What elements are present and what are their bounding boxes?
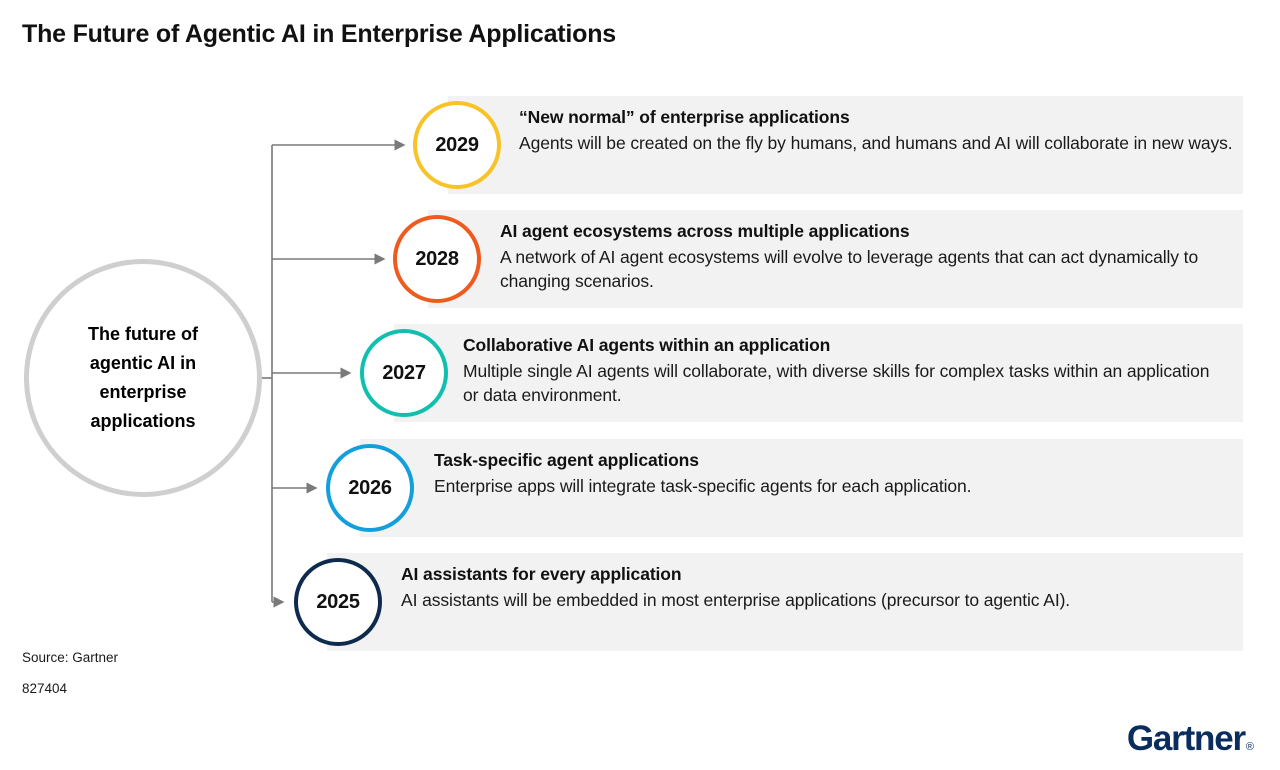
row-description-2029: Agents will be created on the fly by hum… (519, 131, 1235, 156)
row-description-2027: Multiple single AI agents will collabora… (463, 359, 1213, 409)
row-heading-2028: AI agent ecosystems across multiple appl… (500, 220, 1230, 244)
timeline-rows: 2029 “New normal” of enterprise applicat… (0, 0, 1280, 770)
row-heading-2025: AI assistants for every application (401, 563, 1201, 587)
year-circle-2028[interactable]: 2028 (393, 215, 481, 303)
row-text-2025: AI assistants for every application AI a… (401, 563, 1201, 612)
year-circle-2025[interactable]: 2025 (294, 558, 382, 646)
year-circle-2029[interactable]: 2029 (413, 101, 501, 189)
document-id: 827404 (22, 681, 67, 696)
row-text-2029: “New normal” of enterprise applications … (519, 106, 1235, 155)
year-circle-2027[interactable]: 2027 (360, 329, 448, 417)
year-circle-2026[interactable]: 2026 (326, 444, 414, 532)
registered-trademark-icon: ® (1246, 741, 1254, 753)
row-heading-2029: “New normal” of enterprise applications (519, 106, 1235, 130)
year-label-2028: 2028 (415, 248, 458, 271)
year-label-2027: 2027 (382, 362, 425, 385)
row-text-2027: Collaborative AI agents within an applic… (463, 334, 1213, 408)
row-heading-2026: Task-specific agent applications (434, 449, 1224, 473)
gartner-logo-text: Gartner (1127, 721, 1245, 756)
source-note: Source: Gartner (22, 650, 118, 665)
row-description-2025: AI assistants will be embedded in most e… (401, 588, 1201, 613)
row-text-2026: Task-specific agent applications Enterpr… (434, 449, 1224, 498)
year-label-2029: 2029 (435, 134, 478, 157)
row-heading-2027: Collaborative AI agents within an applic… (463, 334, 1213, 358)
row-text-2028: AI agent ecosystems across multiple appl… (500, 220, 1230, 294)
year-label-2026: 2026 (348, 477, 391, 500)
row-description-2028: A network of AI agent ecosystems will ev… (500, 245, 1230, 295)
year-label-2025: 2025 (316, 591, 359, 614)
row-description-2026: Enterprise apps will integrate task-spec… (434, 474, 1224, 499)
gartner-logo: Gartner ® (1127, 721, 1254, 756)
